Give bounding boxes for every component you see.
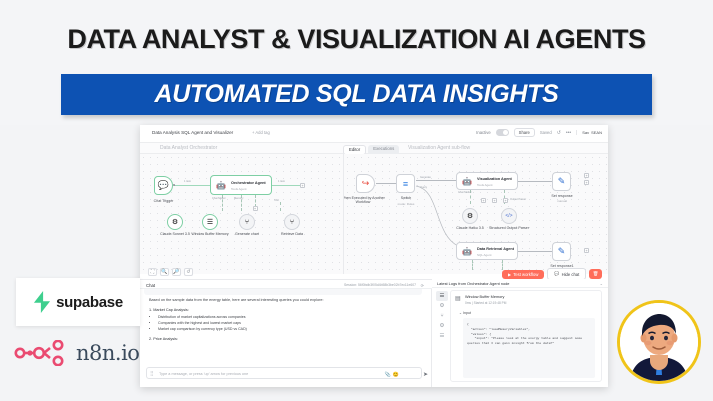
subtitle-banner: AUTOMATED SQL DATA INSIGHTS — [61, 74, 652, 115]
zoom-out-icon[interactable]: 🔎 — [172, 268, 181, 276]
chat-bullets-1: Distribution of market capitalizations a… — [158, 315, 417, 332]
saved-status: Saved — [540, 130, 552, 135]
wire-label-chatmodel-r: Chat Model — [458, 191, 471, 194]
node-label-structured-output-parser: Structured Output Parser — [484, 226, 534, 230]
node-structured-output-parser[interactable]: </> — [501, 208, 517, 224]
log-entry-meta: 0ms | Started at 12:19:48 PM — [465, 301, 506, 305]
user-label: SEAN — [591, 130, 602, 135]
wire-label-1: 1 item — [184, 180, 191, 183]
logs-node-rail: ☰ ⚙ ⑂ ⚙ ☰ — [436, 291, 448, 341]
supabase-icon — [33, 291, 51, 313]
wire-label-generate: Generate — [420, 176, 431, 179]
chat-body: Based on the sample data from the energy… — [140, 289, 432, 387]
node-sub-set-response: manual — [540, 199, 584, 203]
add-memory-button[interactable]: + — [481, 198, 486, 203]
network-icon-2: ⑂ — [290, 219, 294, 226]
test-workflow-button[interactable]: ▶ Test workflow — [502, 270, 544, 279]
node-label-data-retrieval-agent: Data Retrieval Agent — [477, 247, 514, 251]
n8n-logo: n8n.io — [14, 340, 139, 366]
dash-4 — [280, 202, 281, 211]
play-icon: ▶ — [508, 272, 511, 277]
log-input-label[interactable]: ⌄ Input — [459, 311, 471, 315]
wire-label-tool: Tool — [274, 199, 279, 202]
wire-label-memory: Memory — [234, 197, 243, 200]
node-label-generate-chart: Generate chart — [222, 232, 272, 236]
node-claude-haiku[interactable]: ⚙ — [462, 208, 478, 224]
wire-label-parser-r: Output Parser — [510, 198, 526, 201]
wire-label-chatmodel: Chat Model — [212, 197, 225, 200]
log-entry-title: Window Buffer Memory — [465, 295, 504, 299]
node-set-response[interactable]: ✎ — [552, 172, 571, 191]
wire-trigger-to-agent — [174, 185, 210, 186]
log-entry-icon: ▤ — [455, 295, 461, 302]
robot-icon-data: 🤖 — [462, 247, 472, 256]
node-label-when-executed: When Executed by Another Workflow — [343, 196, 386, 205]
pencil-icon: ✎ — [553, 173, 570, 190]
app-top-bar: Data Analysis SQL Agent and Visualizer +… — [140, 125, 608, 143]
supabase-logo-card: supabase — [16, 278, 140, 326]
wire-r4 — [518, 181, 552, 182]
delete-button[interactable]: 🗑 — [589, 269, 602, 279]
attach-icon[interactable]: 📎 — [385, 372, 391, 378]
dash-r3 — [472, 260, 473, 270]
n8n-app-screenshot: Data Analysis SQL Agent and Visualizer +… — [140, 125, 608, 387]
rail-gear-icon[interactable]: ⚙ — [436, 301, 448, 311]
send-icon[interactable]: ➤ — [423, 371, 428, 378]
subtitle-text: AUTOMATED SQL DATA INSIGHTS — [155, 80, 559, 109]
pencil-icon-2: ✎ — [553, 243, 570, 260]
add-node-button[interactable]: + — [300, 183, 305, 188]
add-node-button-r3[interactable]: + — [584, 248, 589, 253]
log-json-content: { "action": "loadMemoryVariables", "valu… — [463, 318, 595, 378]
git-label: Sav — [582, 130, 589, 135]
reset-zoom-icon[interactable]: ↺ — [184, 268, 193, 276]
rail-memory-icon-2[interactable]: ☰ — [436, 331, 448, 341]
node-label-orchestrator: Orchestrator Agent — [231, 181, 266, 185]
logs-title: Latest Logs from Orchestrator Agent node — [437, 281, 509, 286]
robot-icon-viz: 🤖 — [462, 177, 472, 186]
chat-bullet: Market cap comparison by currency type (… — [158, 327, 417, 333]
undo-icon[interactable]: ↺ — [557, 130, 561, 136]
test-workflow-label: Test workflow — [513, 272, 538, 277]
node-generate-chart[interactable]: ⑂ — [239, 214, 255, 230]
resize-grip-icon[interactable]: ⣿ — [150, 371, 154, 377]
emoji-icon[interactable]: 😊 — [393, 372, 399, 378]
workflow-canvas-right[interactable]: ↪ When Executed by Another Workflow ≡ Sw… — [343, 154, 608, 274]
rail-gear-icon-2[interactable]: ⚙ — [436, 321, 448, 331]
chat-input-wrapper[interactable]: ⣿ Type a message, or press 'up' arrow fo… — [146, 367, 422, 379]
node-sub-visualization-agent: Tools Agent — [477, 183, 493, 187]
tab-editor[interactable]: Editor — [343, 145, 366, 155]
robot-icon: 🤖 — [216, 181, 226, 190]
node-label-visualization-agent: Visualization Agent — [477, 177, 512, 181]
chat-input-placeholder: Type a message, or press 'up' arrow for … — [159, 372, 248, 376]
input-label-text: Input — [463, 311, 471, 315]
workflow-canvas-left[interactable]: 💬 Chat Trigger 1 item 🤖 Orchestrator Age… — [140, 154, 343, 274]
node-switch[interactable]: ≡ — [396, 174, 415, 193]
supabase-wordmark: supabase — [56, 294, 123, 311]
avatar-illustration — [620, 303, 698, 381]
canvas-zoom-controls: ⛶ 🔍 🔎 ↺ — [148, 268, 193, 276]
share-button[interactable]: Share — [514, 128, 535, 137]
chat-session-id: Session: 56f0bdb3f05d4b58b3be02b7ec11e60… — [344, 283, 416, 287]
node-label-set-response: Set response — [540, 194, 584, 198]
chat-message-intro: Based on the sample data from the energy… — [149, 298, 417, 304]
add-parser-button[interactable]: + — [503, 198, 508, 203]
node-chat-trigger[interactable]: 💬 — [154, 176, 173, 195]
input-caret-icon: ⌄ — [459, 311, 462, 315]
network-icon: ⑂ — [245, 219, 249, 226]
wire-r5 — [518, 251, 552, 252]
log-entry-card: ▤ Window Buffer Memory 0ms | Started at … — [450, 290, 602, 382]
avatar — [617, 300, 701, 384]
fit-view-icon[interactable]: ⛶ — [148, 268, 157, 276]
chat-section-2: 2. Price Analysis: — [149, 337, 417, 343]
chat-header: Chat Session: 56f0bdb3f05d4b58b3be02b7ec… — [140, 279, 432, 289]
node-orchestrator-agent[interactable]: 🤖 Orchestrator Agent Tools Agent — [210, 175, 272, 195]
port-dot — [173, 184, 175, 186]
chat-bubble-icon: 💬 — [554, 271, 559, 277]
chat-icon: 💬 — [155, 177, 172, 194]
add-tag-button[interactable]: + Add tag — [252, 130, 270, 135]
title-header: DATA ANALYST & VISUALIZATION AI AGENTS A… — [0, 0, 713, 125]
add-node-button-r1[interactable]: + — [584, 173, 589, 178]
editor-tabs-row: Data Analyst Orchestrator Visualization … — [140, 143, 608, 154]
wire-label-2: 1 item — [278, 180, 285, 183]
node-sub-orchestrator: Tools Agent — [231, 187, 247, 191]
chevron-down-icon[interactable]: ⌄ — [600, 281, 603, 286]
canvas-right-title: Visualization Agent sub-flow — [408, 145, 470, 151]
previous-message-card — [144, 289, 422, 295]
git-badge[interactable]: Sav SEAN — [576, 130, 602, 135]
node-visualization-agent[interactable]: 🤖 Visualization Agent Tools Agent — [456, 172, 518, 190]
add-node-button-r2[interactable]: + — [584, 180, 589, 185]
code-icon: </> — [505, 213, 512, 219]
page-title: DATA ANALYST & VISUALIZATION AI AGENTS — [0, 24, 713, 55]
more-options-icon[interactable]: ••• — [566, 130, 571, 136]
hide-chat-label: Hide chat — [562, 272, 580, 277]
switch-icon: ≡ — [397, 175, 414, 192]
memory-icon: ☰ — [207, 218, 213, 226]
execute-workflow-icon: ↪ — [357, 175, 374, 192]
wire-r2 — [416, 180, 456, 181]
inactive-label: Inactive — [476, 130, 490, 135]
chat-title: Chat — [146, 283, 155, 288]
n8n-wordmark: n8n.io — [76, 341, 139, 365]
logs-panel: Latest Logs from Orchestrator Agent node… — [432, 279, 608, 387]
node-claude-sonnet[interactable]: ⚙ — [167, 214, 183, 230]
chat-message: Based on the sample data from the energy… — [149, 298, 417, 342]
tab-executions[interactable]: Executions — [368, 145, 399, 155]
gear-icon-haiku: ⚙ — [467, 212, 473, 220]
refresh-session-icon[interactable]: ⟳ — [421, 283, 424, 288]
node-label-chat-trigger: Chat Trigger — [140, 199, 187, 203]
rail-network-icon[interactable]: ⑂ — [436, 311, 448, 321]
zoom-in-icon[interactable]: 🔍 — [160, 268, 169, 276]
active-toggle[interactable] — [496, 129, 509, 136]
node-set-response1[interactable]: ✎ — [552, 242, 571, 261]
node-retrieve-data[interactable]: ⑂ — [284, 214, 300, 230]
wire-agent-out — [272, 185, 300, 186]
gear-icon: ⚙ — [172, 218, 178, 226]
node-sub-data-retrieval-agent: SQL Agent — [477, 253, 491, 257]
add-tool-button[interactable]: + — [253, 206, 258, 211]
chat-section-1: 1. Market Cap Analysis: — [149, 308, 417, 314]
workflow-name[interactable]: Data Analysis SQL Agent and Visualizer — [152, 130, 233, 135]
rail-memory-icon[interactable]: ☰ — [436, 291, 448, 301]
node-when-executed-by-another-workflow[interactable]: ↪ — [356, 174, 375, 193]
node-data-retrieval-agent[interactable]: 🤖 Data Retrieval Agent SQL Agent — [456, 242, 518, 260]
top-bar-actions: Inactive Share Saved ↺ ••• Sav SEAN — [476, 128, 602, 137]
canvas-left-title: Data Analyst Orchestrator — [160, 145, 217, 151]
chat-input-icons: 📎 😊 — [385, 372, 399, 378]
node-label-retrieve-data: Retrieve Data — [267, 232, 317, 236]
n8n-icon — [14, 340, 72, 366]
tabs: Editor Executions — [343, 145, 399, 155]
node-window-buffer-memory[interactable]: ☰ — [202, 214, 218, 230]
wire-r1 — [376, 183, 396, 184]
add-tool-button-r[interactable]: + — [492, 198, 497, 203]
logs-header: Latest Logs from Orchestrator Agent node… — [432, 279, 608, 288]
